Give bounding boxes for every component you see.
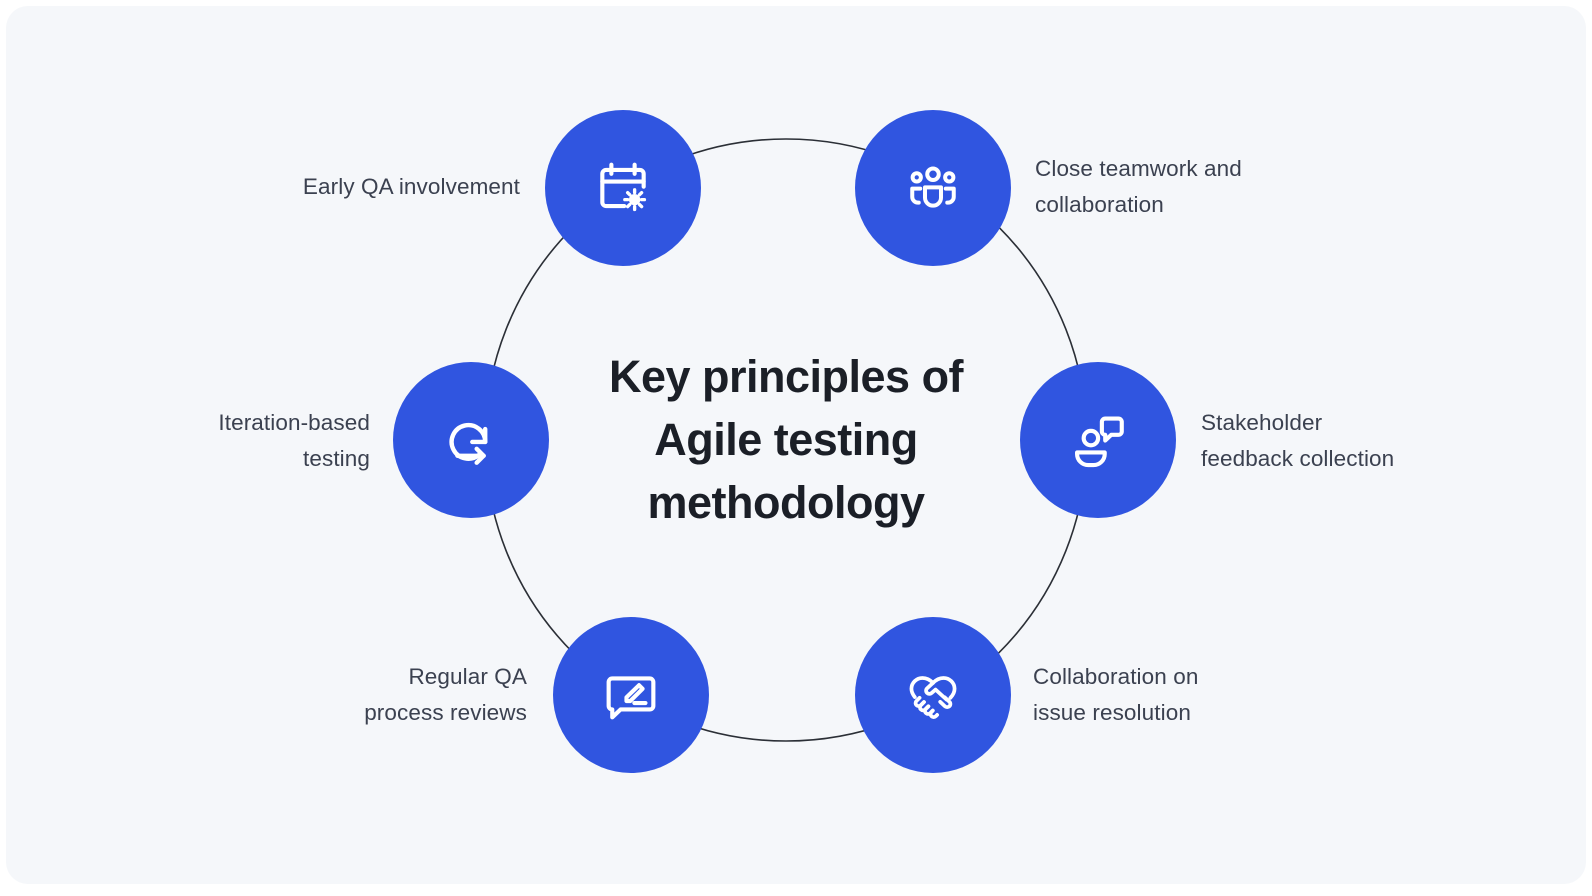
- cycle-diagram: Key principles of Agile testing methodol…: [0, 0, 1592, 896]
- diagram-canvas: Key principles of Agile testing methodol…: [0, 0, 1592, 896]
- label-stakeholder-feedback-collection: Stakeholder feedback collection: [1201, 405, 1501, 477]
- node-regular-qa-process-reviews[interactable]: [553, 617, 709, 773]
- page-title: Key principles of Agile testing methodol…: [566, 345, 1006, 534]
- label-close-teamwork-and-collaboration: Close teamwork and collaboration: [1035, 151, 1365, 223]
- node-collaboration-on-issue-resolution[interactable]: [855, 617, 1011, 773]
- circular-arrow-icon: [440, 409, 502, 471]
- page-title-line-3: methodology: [566, 471, 1006, 534]
- page-title-line-2: Agile testing: [566, 408, 1006, 471]
- label-iteration-based-testing: Iteration-based testing: [80, 405, 370, 477]
- person-speech-bubble-icon: [1067, 409, 1129, 471]
- node-iteration-based-testing[interactable]: [393, 362, 549, 518]
- speech-bubble-pencil-icon: [600, 664, 662, 726]
- label-collaboration-on-issue-resolution: Collaboration on issue resolution: [1033, 659, 1333, 731]
- label-regular-qa-process-reviews: Regular QA process reviews: [160, 659, 527, 731]
- calendar-sun-icon: [592, 157, 654, 219]
- node-early-qa-involvement[interactable]: [545, 110, 701, 266]
- node-close-teamwork-and-collaboration[interactable]: [855, 110, 1011, 266]
- page-title-line-1: Key principles of: [566, 345, 1006, 408]
- handshake-icon: [902, 664, 964, 726]
- users-group-icon: [903, 158, 963, 218]
- label-early-qa-involvement: Early QA involvement: [130, 169, 520, 205]
- node-stakeholder-feedback-collection[interactable]: [1020, 362, 1176, 518]
